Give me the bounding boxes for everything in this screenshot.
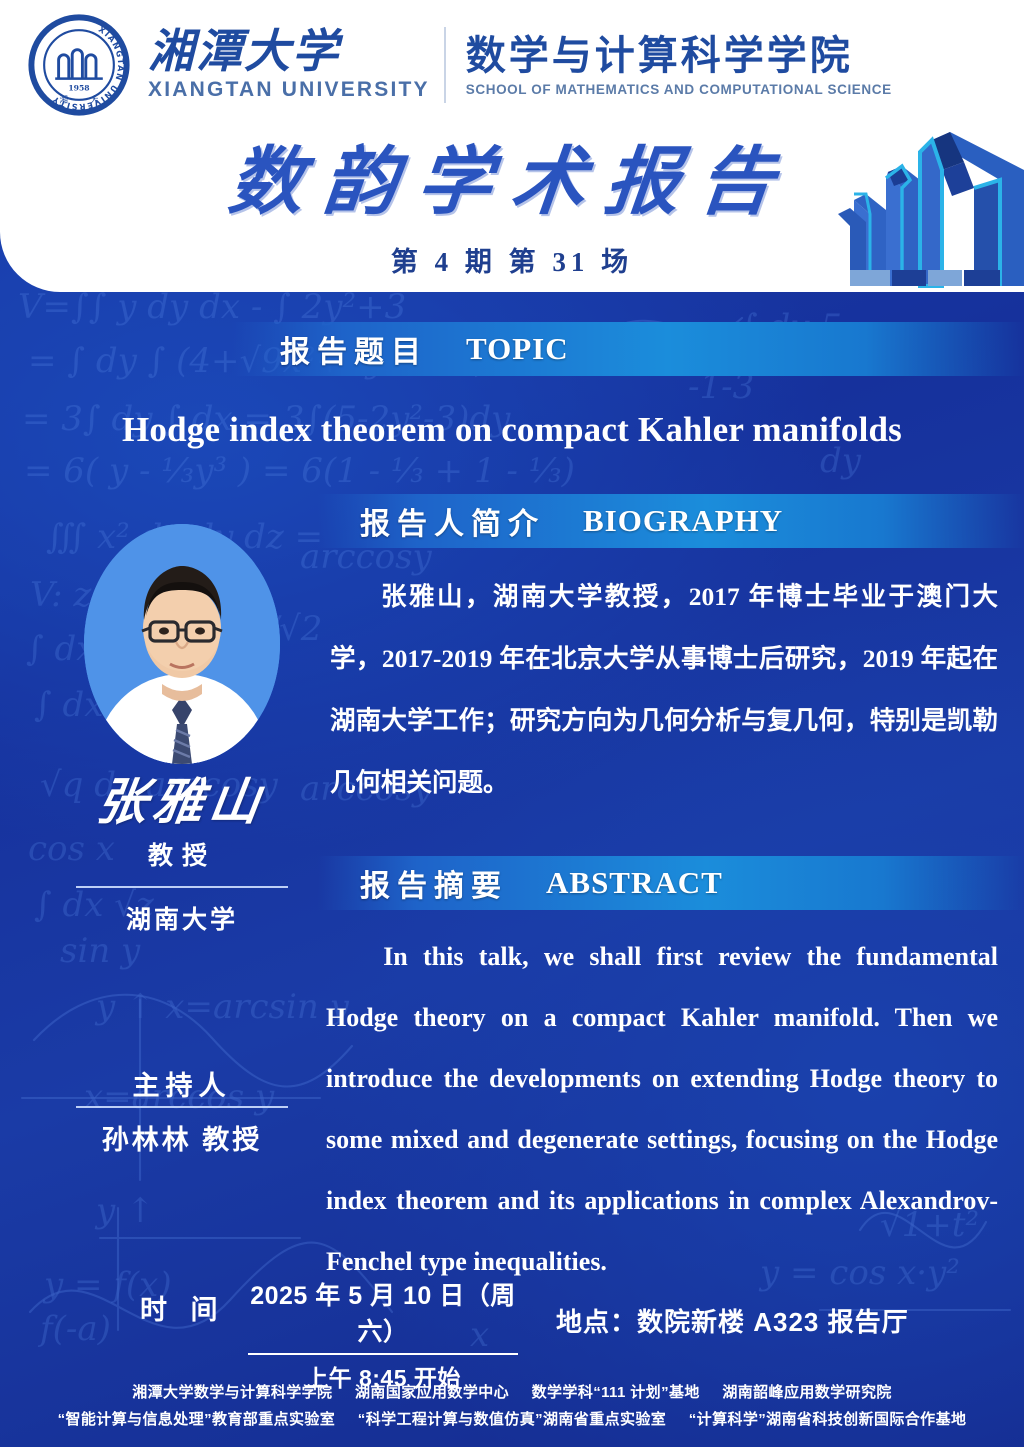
- time-label: 时 间: [140, 1288, 226, 1327]
- section-header-biography: 报告人简介 BIOGRAPHY: [318, 494, 1024, 548]
- university-name-block: 湘潭大学 XIANGTAN UNIVERSITY: [148, 28, 430, 102]
- footer-line-2: “智能计算与信息处理”教育部重点实验室 “科学工程计算与数值仿真”湖南省重点实验…: [0, 1406, 1024, 1433]
- host-name: 孙林林 教授: [44, 1118, 320, 1157]
- school-name-en: SCHOOL OF MATHEMATICS AND COMPUTATIONAL …: [466, 82, 892, 97]
- school-name-cn: 数学与计算科学学院: [466, 34, 892, 78]
- poster-header: 1958 XIANGTAN UNIVERSITY 湘 大 湘潭大学 XIANGT…: [0, 0, 1024, 292]
- time-divider: [248, 1353, 518, 1355]
- biography-label-en: BIOGRAPHY: [583, 503, 783, 539]
- footer-lab: “科学工程计算与数值仿真”湖南省重点实验室: [358, 1411, 666, 1428]
- institution-identity: 1958 XIANGTAN UNIVERSITY 湘 大 湘潭大学 XIANGT…: [28, 14, 892, 116]
- campus-gate-building-icon: [824, 118, 1024, 293]
- host-label: 主持人: [44, 1064, 320, 1103]
- host-divider: [76, 1106, 288, 1108]
- footer-org: 湖南韶峰应用数学研究院: [722, 1384, 891, 1401]
- poster-footer: 湘潭大学数学与计算科学学院 湖南国家应用数学中心 数学学科“111 计划”基地 …: [0, 1379, 1024, 1447]
- svg-text:V=∫∫ y dy dx - ∫ 2y²+3: V=∫∫ y dy dx - ∫ 2y²+3: [18, 287, 406, 327]
- svg-text:= 6( y - ⅓y³ ) = 6(1 - ⅓ + 1 -: = 6( y - ⅓y³ ) = 6(1 - ⅓ + 1 - ⅓): [24, 451, 575, 491]
- xiangtan-university-seal-icon: 1958 XIANGTAN UNIVERSITY 湘 大: [28, 14, 130, 116]
- svg-text:1958: 1958: [68, 84, 89, 93]
- event-location: 地点：数院新楼 A323 报告厅: [556, 1302, 909, 1339]
- svg-text:f(-a): f(-a): [37, 1309, 111, 1349]
- abstract-label-cn: 报告摘要: [360, 861, 508, 905]
- time-block: 2025 年 5 月 10 日（周六） 上午 8:45 开始: [248, 1276, 518, 1393]
- svg-text:湘: 湘: [59, 94, 68, 105]
- svg-text:y ↑ x=arcsin y: y ↑ x=arcsin y: [94, 987, 350, 1027]
- footer-line-1: 湘潭大学数学与计算科学学院 湖南国家应用数学中心 数学学科“111 计划”基地 …: [0, 1379, 1024, 1406]
- university-name-cn: 湘潭大学: [148, 28, 430, 77]
- seminar-poster: V=∫∫ y dy dx - ∫ 2y²+3 = ∫ dy ∫ (4+√9x²+…: [0, 0, 1024, 1447]
- speaker-name: 张雅山: [39, 762, 325, 834]
- svg-text:y ↑: y ↑: [94, 1191, 155, 1231]
- talk-title: Hodge index theorem on compact Kahler ma…: [30, 410, 994, 450]
- footer-org: 数学学科“111 计划”基地: [532, 1384, 700, 1401]
- abstract-label-en: ABSTRACT: [546, 865, 723, 901]
- svg-text:大: 大: [90, 94, 99, 105]
- footer-org: 湖南国家应用数学中心: [355, 1384, 509, 1401]
- svg-text:sin y: sin y: [60, 931, 141, 971]
- abstract-text: In this talk, we shall first review the …: [326, 926, 998, 1292]
- speaker-rank: 教授: [44, 836, 320, 872]
- biography-label-cn: 报告人简介: [360, 499, 545, 543]
- section-header-topic: 报告题目 TOPIC: [232, 322, 1024, 376]
- speaker-portrait-photo: [84, 524, 280, 764]
- biography-text: 张雅山，湖南大学教授，2017 年博士毕业于澳门大学，2017-2019 年在北…: [330, 566, 998, 814]
- footer-lab: “智能计算与信息处理”教育部重点实验室: [58, 1411, 336, 1428]
- footer-lab: “计算科学”湖南省科技创新国际合作基地: [689, 1411, 967, 1428]
- event-date: 2025 年 5 月 10 日（周六）: [248, 1276, 518, 1348]
- speaker-divider: [76, 886, 288, 888]
- topic-label-en: TOPIC: [466, 331, 569, 367]
- topic-label-cn: 报告题目: [280, 327, 428, 371]
- school-name-block: 数学与计算科学学院 SCHOOL OF MATHEMATICS AND COMP…: [466, 34, 892, 97]
- section-header-abstract: 报告摘要 ABSTRACT: [318, 856, 1024, 910]
- identity-divider: [444, 27, 446, 103]
- university-name-en: XIANGTAN UNIVERSITY: [148, 78, 430, 102]
- footer-org: 湘潭大学数学与计算科学学院: [132, 1384, 332, 1401]
- speaker-affiliation: 湖南大学: [44, 900, 320, 936]
